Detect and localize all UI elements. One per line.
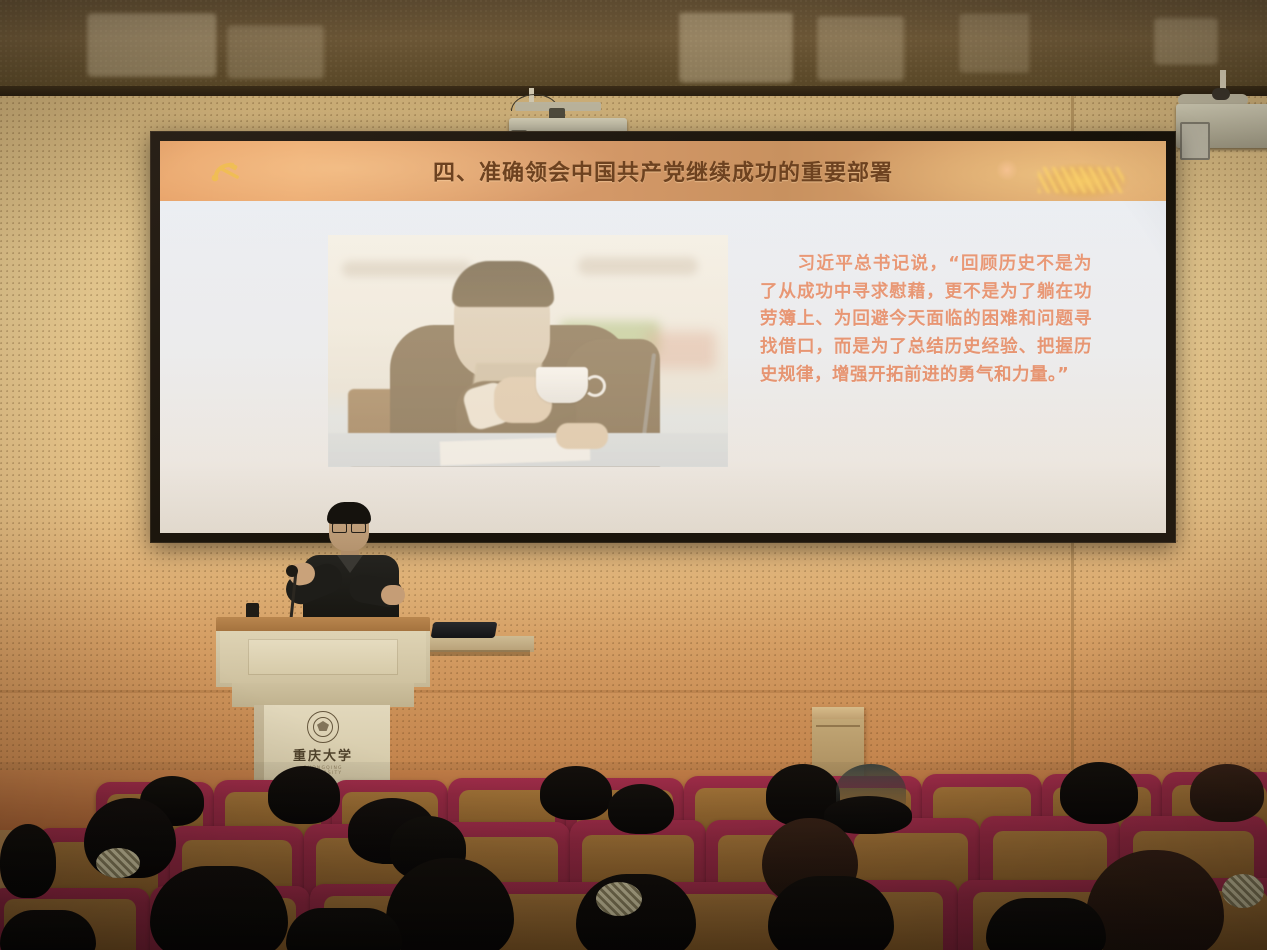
audience-head bbox=[540, 766, 612, 820]
speaker-hair bbox=[327, 502, 371, 524]
hair-scrunchie bbox=[596, 882, 642, 916]
projector-lens bbox=[1180, 122, 1210, 160]
ceiling-light-reflection bbox=[1155, 18, 1217, 64]
projector-mount-arm bbox=[1212, 88, 1230, 100]
stage-cabinet-seam bbox=[816, 725, 860, 727]
projection-screen-frame: 四、准确领会中国共产党继续成功的重要部署 bbox=[150, 131, 1176, 543]
slide-banner: 四、准确领会中国共产党继续成功的重要部署 bbox=[160, 141, 1166, 201]
microphone-head-icon bbox=[286, 565, 298, 577]
glasses-icon bbox=[332, 523, 366, 531]
audience-seating bbox=[0, 762, 1267, 950]
audience-head bbox=[986, 898, 1106, 950]
stage-cabinet-top bbox=[812, 707, 864, 719]
audience-head bbox=[608, 784, 674, 834]
audience-head bbox=[576, 874, 696, 950]
ceiling-light-reflection bbox=[88, 14, 216, 76]
slide-photo bbox=[328, 235, 728, 467]
podium-desk bbox=[220, 631, 426, 683]
wall-panel-seam bbox=[0, 690, 1267, 693]
audience-head bbox=[1060, 762, 1138, 824]
audience-head bbox=[1190, 764, 1264, 822]
audience-head bbox=[768, 876, 894, 950]
audience-head bbox=[0, 824, 56, 898]
audience-head bbox=[268, 766, 340, 824]
audience-head bbox=[0, 910, 96, 950]
projection-screen: 四、准确领会中国共产党继续成功的重要部署 bbox=[160, 141, 1166, 533]
slide-quote-text: 习近平总书记说，“回顾历史不是为了从成功中寻求慰藉，更不是为了躺在功劳簿上、为回… bbox=[760, 251, 1092, 389]
ceiling-light-reflection bbox=[818, 16, 904, 80]
lecture-hall-photo: 四、准确领会中国共产党继续成功的重要部署 bbox=[0, 0, 1267, 950]
ceiling-projector-right bbox=[1168, 70, 1267, 164]
photo-projection-wash bbox=[328, 235, 728, 467]
slide-title: 四、准确领会中国共产党继续成功的重要部署 bbox=[160, 141, 1166, 201]
hair-scrunchie bbox=[1222, 874, 1264, 908]
speaker-presenter bbox=[285, 505, 417, 630]
ceiling-light-reflection bbox=[228, 26, 324, 78]
ceiling-light-reflection bbox=[960, 14, 1030, 72]
podium-desk-panel bbox=[248, 639, 398, 675]
side-table-edge bbox=[424, 650, 530, 656]
university-seal-icon bbox=[307, 711, 339, 743]
speaker-right-hand bbox=[381, 585, 405, 605]
hair-scrunchie bbox=[96, 848, 140, 878]
audience-head bbox=[286, 908, 402, 950]
laptop-icon bbox=[431, 622, 498, 638]
audience-head bbox=[150, 866, 288, 950]
podium-midsection bbox=[232, 683, 414, 707]
slide-content-area: 习近平总书记说，“回顾历史不是为了从成功中寻求慰藉，更不是为了躺在功劳簿上、为回… bbox=[160, 201, 1166, 533]
ceiling bbox=[0, 0, 1267, 96]
ceiling-light-reflection bbox=[680, 12, 792, 82]
